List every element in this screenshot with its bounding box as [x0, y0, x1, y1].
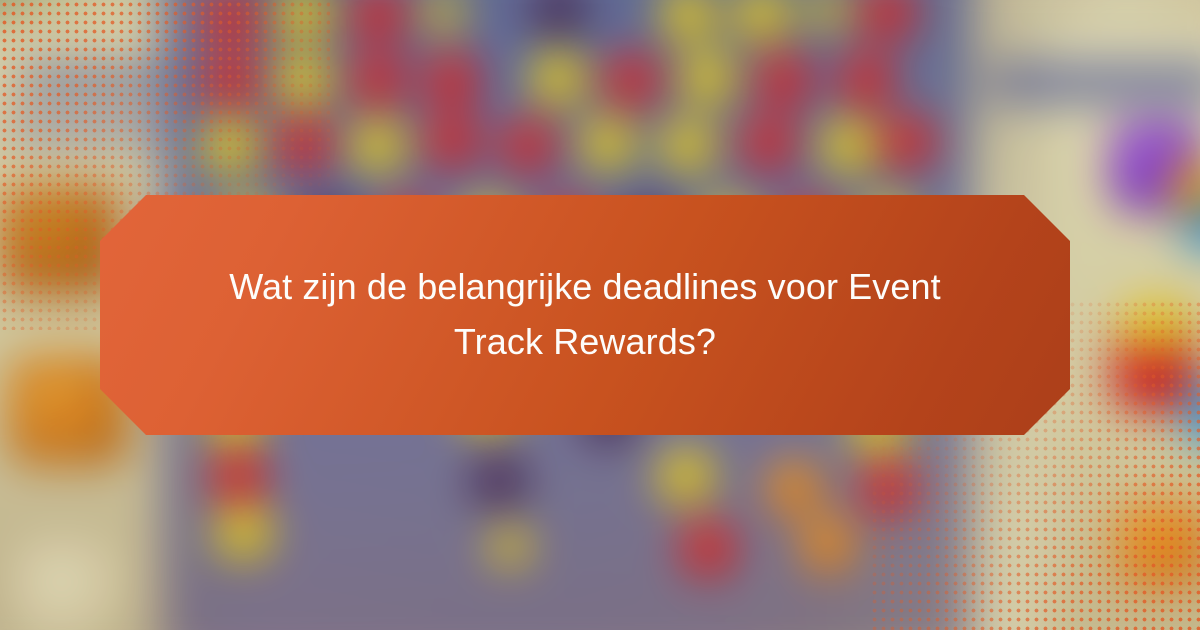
- share-card: Wat zijn de belangrijke deadlines voor E…: [0, 0, 1200, 630]
- page-title: Wat zijn de belangrijke deadlines voor E…: [185, 260, 985, 369]
- left-panel-chip: [12, 540, 132, 630]
- game-right-panel: [1050, 30, 1200, 630]
- right-panel-chip: [1120, 298, 1192, 352]
- hud-bar: [990, 60, 1200, 106]
- right-panel-chip: [1116, 500, 1200, 588]
- headline-banner: Wat zijn de belangrijke deadlines voor E…: [100, 195, 1070, 435]
